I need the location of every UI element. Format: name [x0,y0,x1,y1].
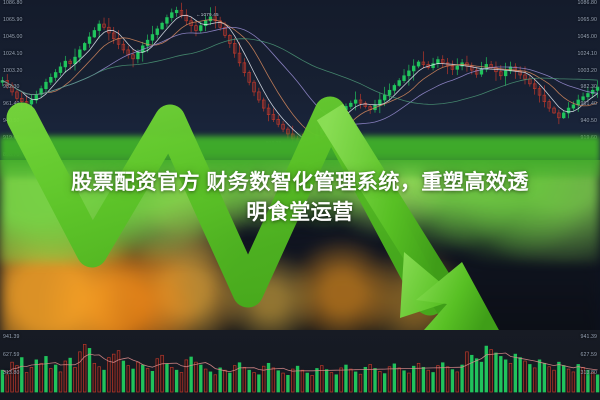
volume-y-tick-left: 313.80 [3,371,19,376]
page-title: 股票配资官方 财务数智化管理系统，重塑高效透 明食堂运营 [0,168,600,229]
volume-plot-svg [0,330,600,400]
headline-line-1: 股票配资官方 财务数智化管理系统，重塑高效透 [71,171,529,194]
volume-y-tick-right: 627.59 [581,353,597,358]
volume-y-tick-right: 941.39 [581,335,597,340]
volume-y-tick-left: 627.59 [3,353,19,358]
volume-y-tick-right: 313.80 [581,371,597,376]
headline-line-2: 明食堂运营 [14,198,586,228]
volume-bar-chart [0,330,600,400]
chart-banner-image: 1086.801065.901045.001024.101003.20982.3… [0,0,600,400]
volume-y-tick-left: 941.39 [3,335,19,340]
